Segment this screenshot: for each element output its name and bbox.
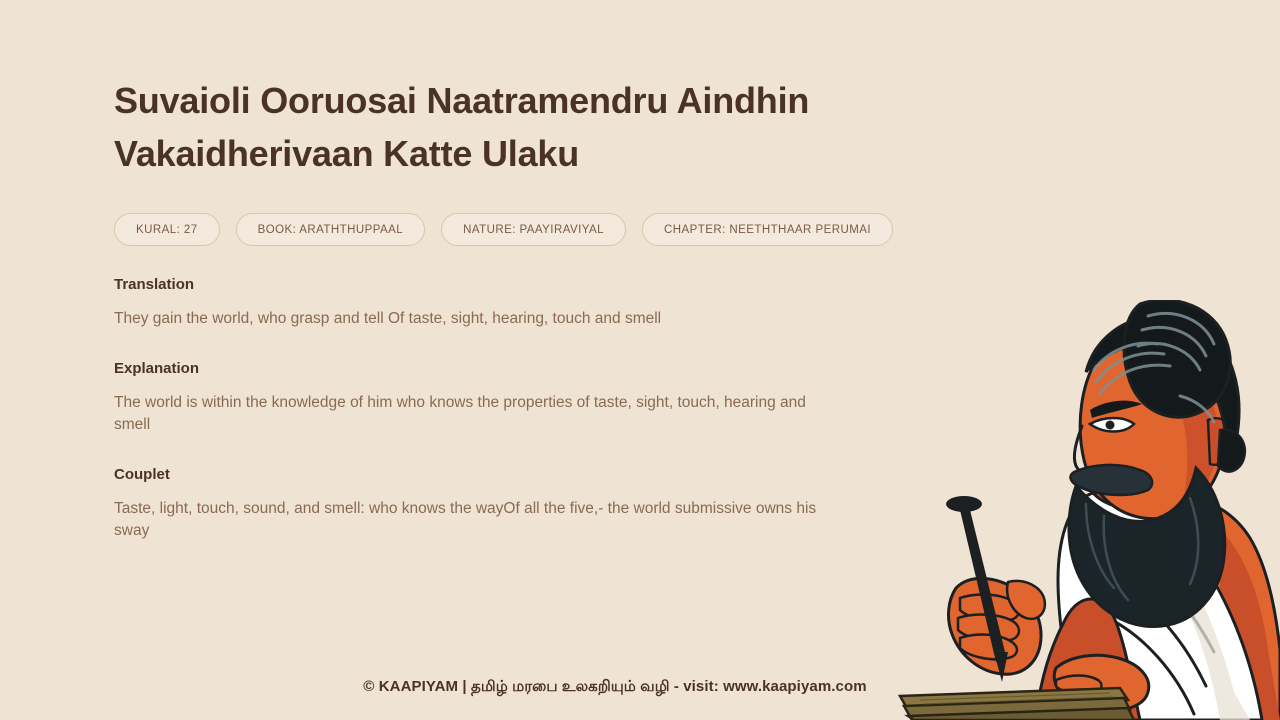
thiruvalluvar-writing-illustration (890, 300, 1280, 720)
hair-bun (1124, 300, 1230, 417)
kural-content: Suvaioli Ooruosai Naatramendru Aindhin V… (114, 74, 904, 542)
eye (1090, 418, 1134, 432)
section-explanation: Explanation The world is within the know… (114, 359, 904, 436)
hair (1086, 316, 1239, 472)
stylus-icon (946, 496, 1008, 682)
badge-chapter[interactable]: CHAPTER: NEETHTHAAR PERUMAI (642, 213, 893, 246)
explanation-heading: Explanation (114, 359, 904, 379)
nose (1074, 426, 1098, 474)
metadata-badges: KURAL: 27 BOOK: ARATHTHUPPAAL NATURE: PA… (114, 213, 904, 246)
couplet-text: Taste, light, touch, sound, and smell: w… (114, 498, 844, 542)
kural-page: Suvaioli Ooruosai Naatramendru Aindhin V… (0, 0, 1280, 720)
footer-credit: © KAAPIYAM | தமிழ் மரபை உலகறியும் வழி - … (0, 678, 1280, 697)
moustache (1071, 465, 1153, 495)
translation-text: They gain the world, who grasp and tell … (114, 308, 844, 330)
left-arm (1036, 599, 1140, 720)
badge-nature[interactable]: NATURE: PAAYIRAVIYAL (441, 213, 626, 246)
writing-hand (949, 578, 1045, 674)
explanation-text: The world is within the knowledge of him… (114, 392, 844, 436)
section-couplet: Couplet Taste, light, touch, sound, and … (114, 465, 904, 542)
beard (1069, 468, 1225, 627)
eyebrow (1090, 401, 1142, 418)
page-title: Suvaioli Ooruosai Naatramendru Aindhin V… (114, 74, 854, 180)
badge-book[interactable]: BOOK: ARATHTHUPPAAL (236, 213, 426, 246)
badge-kural[interactable]: KURAL: 27 (114, 213, 220, 246)
face-shape (1080, 343, 1225, 518)
ear-shape (1208, 418, 1234, 465)
translation-heading: Translation (114, 275, 904, 295)
couplet-heading: Couplet (114, 465, 904, 485)
section-translation: Translation They gain the world, who gra… (114, 275, 904, 330)
